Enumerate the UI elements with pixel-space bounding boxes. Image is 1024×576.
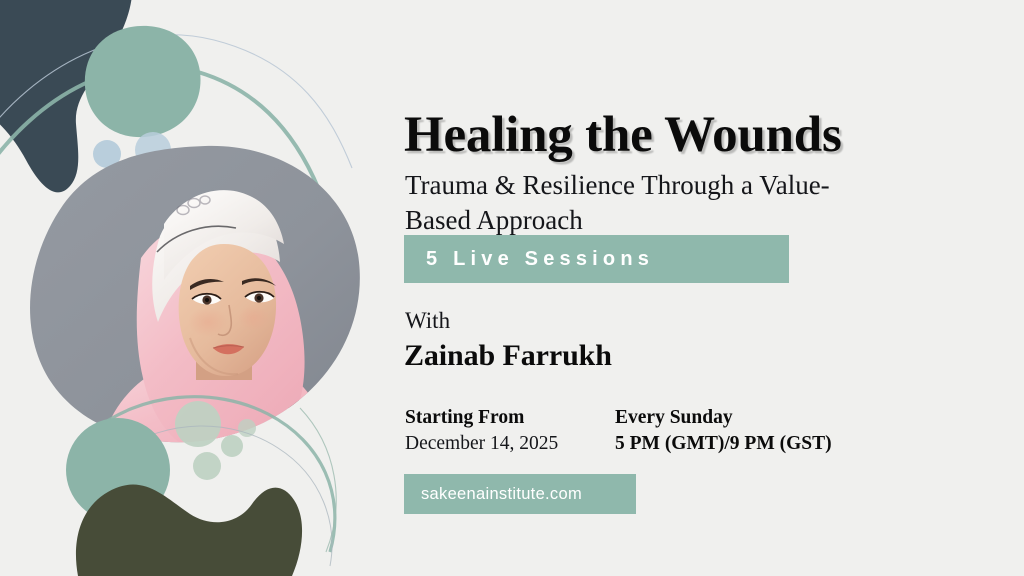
sage-circle-overlap-d xyxy=(238,419,256,437)
schedule-block: Starting From December 14, 2025 Every Su… xyxy=(405,405,875,457)
schedule-start-heading: Starting From xyxy=(405,405,615,431)
schedule-start-date: December 14, 2025 xyxy=(405,431,615,457)
sage-circle-overlap-b xyxy=(221,435,243,457)
sage-circle-overlap-c xyxy=(193,452,221,480)
schedule-recurrence-heading: Every Sunday xyxy=(615,405,832,431)
portrait-cheek-glow xyxy=(188,307,228,337)
poster-canvas: Healing the Wounds Trauma & Resilience T… xyxy=(0,0,1024,576)
content-column: Healing the Wounds Trauma & Resilience T… xyxy=(404,0,1004,576)
website-badge[interactable]: sakeenainstitute.com xyxy=(404,474,636,514)
website-badge-label: sakeenainstitute.com xyxy=(404,485,582,504)
page-title: Healing the Wounds xyxy=(404,106,842,164)
page-subtitle: Trauma & Resilience Through a Value- Bas… xyxy=(405,168,875,238)
with-label: With xyxy=(405,308,450,334)
schedule-recurrence-column: Every Sunday 5 PM (GMT)/9 PM (GST) xyxy=(615,405,832,457)
speaker-name: Zainab Farrukh xyxy=(404,339,612,373)
sessions-badge: 5 Live Sessions xyxy=(404,235,789,283)
sage-circle-overlap-a xyxy=(175,401,221,447)
schedule-time: 5 PM (GMT)/9 PM (GST) xyxy=(615,431,832,457)
sage-blob-top xyxy=(85,26,201,137)
sessions-badge-label: 5 Live Sessions xyxy=(404,248,654,271)
portrait-cheek-glow-2 xyxy=(238,305,270,331)
schedule-start-column: Starting From December 14, 2025 xyxy=(405,405,615,457)
